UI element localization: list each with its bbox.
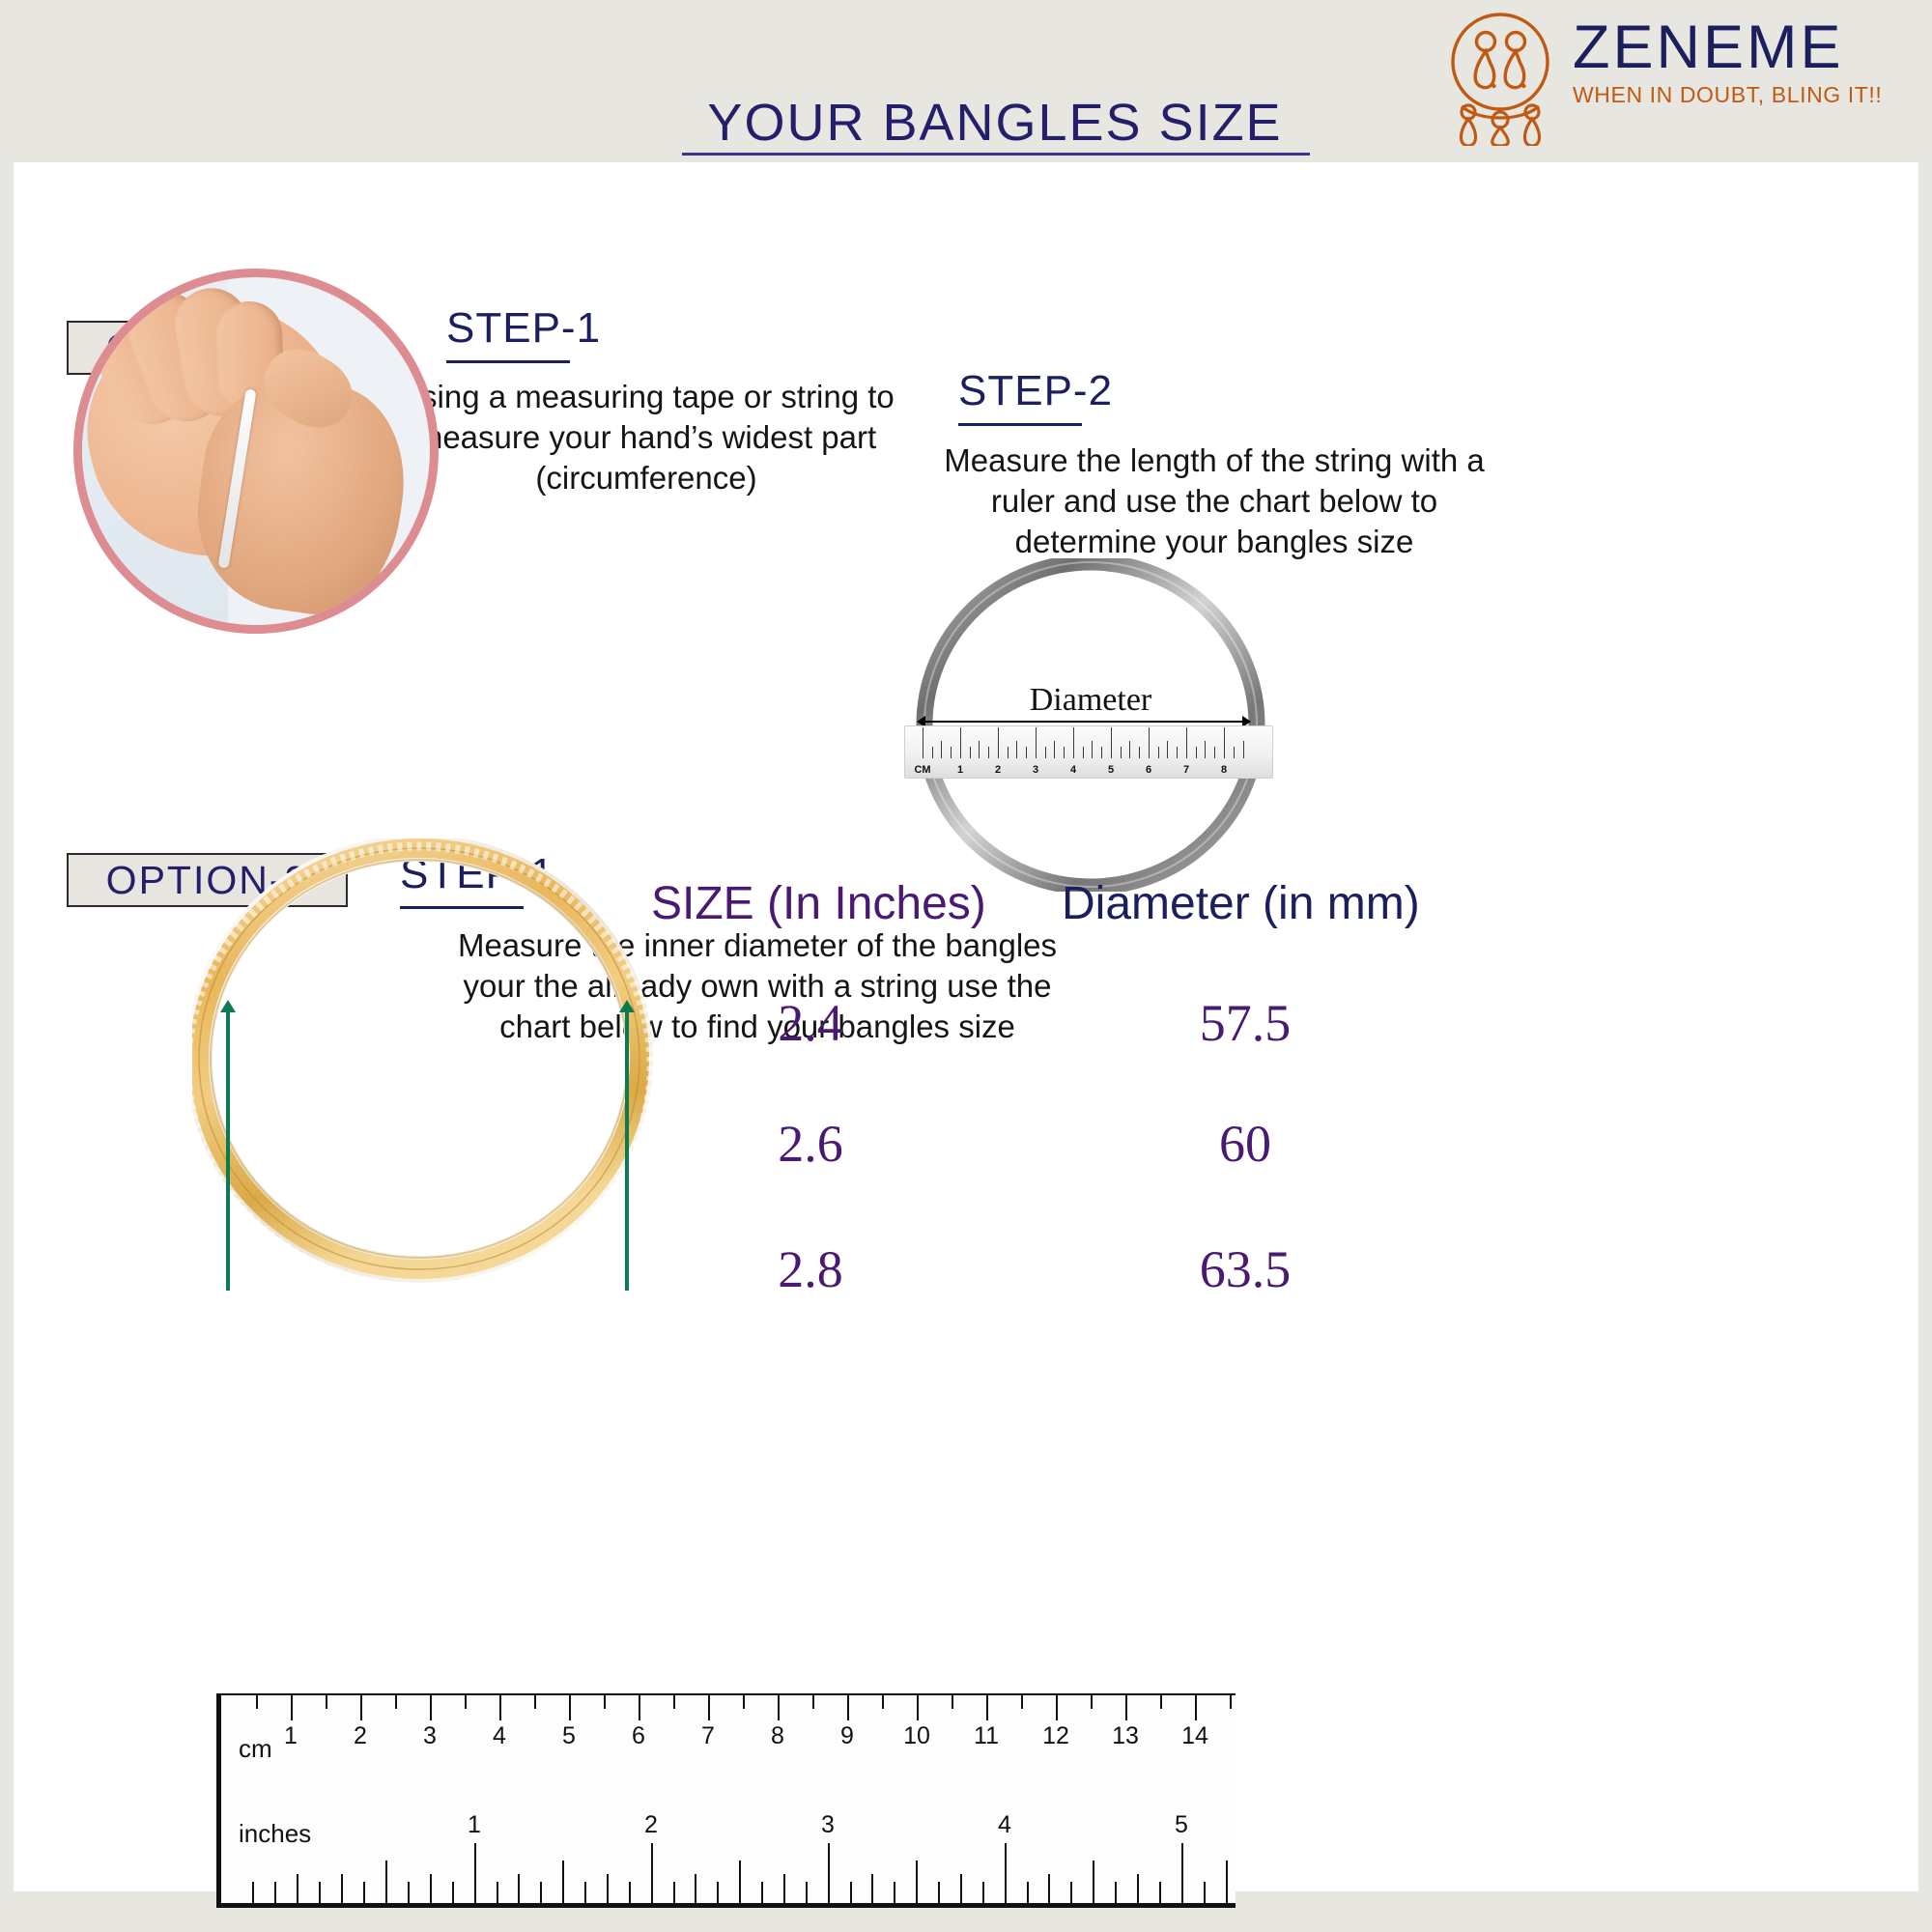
inch-num: 2 xyxy=(644,1811,658,1839)
hand-measurement-photo xyxy=(73,269,439,634)
cm-num: 5 xyxy=(562,1722,576,1750)
logo-text-block: ZENEME WHEN IN DOUBT, BLING IT!! xyxy=(1573,17,1882,108)
content-canvas: OPTION-1 STEP-1 Using a measuring tape o… xyxy=(14,162,1918,1891)
measure-arrow-left-icon xyxy=(226,1010,230,1291)
earrings-in-circle-icon xyxy=(1442,6,1558,146)
table-header-diameter: Diameter (in mm) xyxy=(1062,877,1420,930)
option1-step2-heading: STEP-2 xyxy=(958,370,1113,412)
cm-num: 12 xyxy=(1042,1722,1069,1750)
inch-num: 1 xyxy=(468,1811,481,1839)
measure-arrow-right-icon xyxy=(625,1010,629,1291)
inch-num: 4 xyxy=(998,1811,1011,1839)
diameter-label: Diameter xyxy=(897,682,1284,719)
table-row: 2.4 xyxy=(690,993,931,1053)
table-header-size: SIZE (In Inches) xyxy=(651,877,986,930)
cm-num: 2 xyxy=(354,1722,367,1750)
ruler-num: 7 xyxy=(1183,764,1189,776)
ruler-num: 4 xyxy=(1070,764,1076,776)
cm-ruler-small: CM 1 2 3 4 5 6 7 8 xyxy=(904,725,1273,779)
inch-num: 5 xyxy=(1175,1811,1188,1839)
inch-num: 3 xyxy=(821,1811,835,1839)
brand-name: ZENEME xyxy=(1573,17,1882,78)
ruler-inches-label: inches xyxy=(239,1819,311,1849)
brand-tagline: WHEN IN DOUBT, BLING IT!! xyxy=(1573,82,1882,108)
cm-num: 11 xyxy=(974,1722,999,1750)
bangle-diameter-diagram: Diameter CM 1 2 3 4 5 6 7 8 xyxy=(897,558,1284,892)
option1-step2-underline xyxy=(958,423,1082,426)
cm-num: 8 xyxy=(771,1722,784,1750)
ruler-cm-label: cm xyxy=(239,1734,272,1764)
cm-num: 7 xyxy=(701,1722,715,1750)
brand-logo: ZENEME WHEN IN DOUBT, BLING IT!! xyxy=(1442,6,1925,151)
ruler-num: 3 xyxy=(1033,764,1038,776)
table-row: 2.8 xyxy=(690,1239,931,1299)
table-row: 60 xyxy=(1124,1114,1366,1174)
cm-num: 14 xyxy=(1181,1722,1208,1750)
option1-step2-body: Measure the length of the string with a … xyxy=(944,440,1485,563)
cm-num: 9 xyxy=(840,1722,854,1750)
page-title: YOUR BANGLES SIZE xyxy=(676,97,1314,149)
title-underline xyxy=(682,153,1310,156)
diameter-arrow-icon xyxy=(924,721,1243,723)
option1-step1-body: Using a measuring tape or string to meas… xyxy=(395,377,897,499)
ruler-num: 6 xyxy=(1146,764,1151,776)
ruler-unit-label: CM xyxy=(914,764,930,776)
table-row: 2.6 xyxy=(690,1114,931,1174)
gold-bangle-photo xyxy=(192,838,675,1293)
ruler-num: 8 xyxy=(1221,764,1227,776)
cm-num: 4 xyxy=(493,1722,506,1750)
option1-step1-underline xyxy=(446,360,570,363)
cm-num: 3 xyxy=(423,1722,437,1750)
cm-inch-ruler: cm inches 1 2 3 4 5 6 7 8 9 10 11 12 xyxy=(216,1693,1236,1908)
cm-num: 13 xyxy=(1112,1722,1139,1750)
ruler-num: 2 xyxy=(995,764,1001,776)
table-row: 57.5 xyxy=(1124,993,1366,1053)
page-header: YOUR BANGLES SIZE xyxy=(0,0,1932,162)
option1-step1-heading: STEP-1 xyxy=(446,307,601,350)
cm-num: 10 xyxy=(903,1722,930,1750)
cm-num: 6 xyxy=(632,1722,645,1750)
cm-num: 1 xyxy=(284,1722,298,1750)
size-chart-page: YOUR BANGLES SIZE xyxy=(0,0,1932,1932)
ruler-num: 1 xyxy=(957,764,963,776)
ruler-num: 5 xyxy=(1108,764,1114,776)
table-row: 63.5 xyxy=(1124,1239,1366,1299)
